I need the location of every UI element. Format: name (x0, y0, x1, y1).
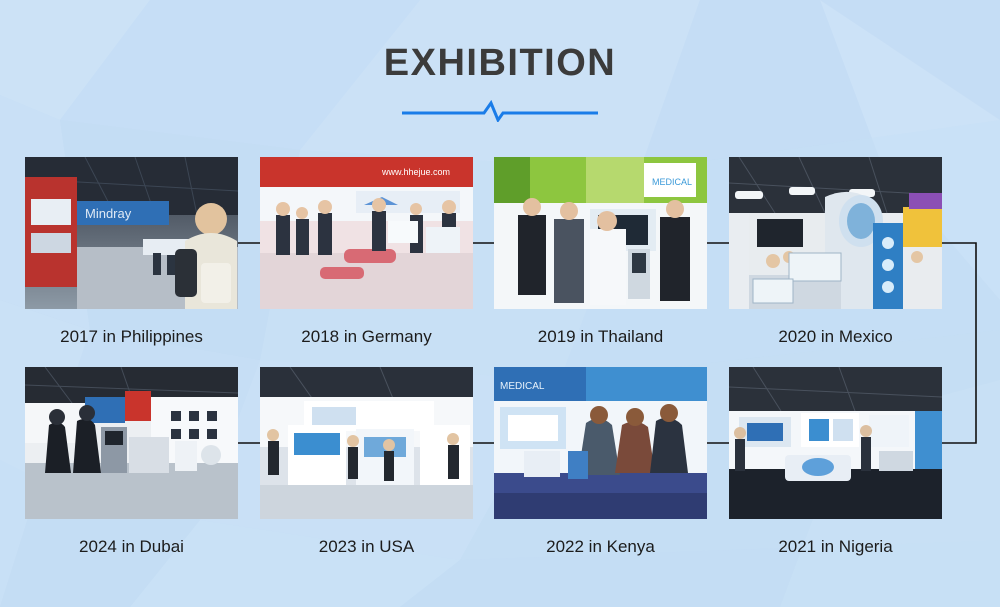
exhibition-caption-2022: 2022 in Kenya (494, 537, 707, 557)
exhibition-caption-2020: 2020 in Mexico (729, 327, 942, 347)
exhibition-photo-dubai (25, 367, 238, 519)
exhibition-photo-mexico (729, 157, 942, 309)
exhibition-photo-nigeria (729, 367, 942, 519)
exhibition-photo-kenya: MEDICAL (494, 367, 707, 519)
exhibition-photo-germany: www.hhejue.com (260, 157, 473, 309)
exhibition-caption-2024: 2024 in Dubai (25, 537, 238, 557)
svg-text:Mindray: Mindray (85, 206, 132, 221)
exhibition-card-2018[interactable]: www.hhejue.com (260, 157, 473, 347)
exhibition-caption-2023: 2023 in USA (260, 537, 473, 557)
pulse-line-icon (402, 100, 598, 122)
exhibition-card-2024[interactable]: 2024 in Dubai (25, 367, 238, 557)
exhibition-card-2023[interactable]: agic 2023 in USA (260, 367, 473, 557)
exhibition-card-2019[interactable]: MEDICAL (494, 157, 707, 347)
exhibition-photo-philippines: Mindray (25, 157, 238, 309)
page-title: EXHIBITION (0, 44, 1000, 82)
svg-text:MEDICAL: MEDICAL (500, 381, 545, 392)
exhibition-caption-2019: 2019 in Thailand (494, 327, 707, 347)
timeline-row-top: Mindray 2017 in Philippines (0, 157, 1000, 357)
exhibition-page: EXHIBITION (0, 0, 1000, 607)
exhibition-caption-2018: 2018 in Germany (260, 327, 473, 347)
svg-text:www.hhejue.com: www.hhejue.com (381, 167, 450, 177)
exhibition-card-2022[interactable]: MEDICAL (494, 367, 707, 557)
exhibition-caption-2017: 2017 in Philippines (25, 327, 238, 347)
svg-text:MEDICAL: MEDICAL (652, 177, 692, 187)
exhibition-card-2017[interactable]: Mindray 2017 in Philippines (25, 157, 238, 347)
exhibition-card-2021[interactable]: 2021 in Nigeria (729, 367, 942, 557)
exhibition-photo-usa: agic (260, 367, 473, 519)
timeline-row-bottom: 2024 in Dubai (0, 367, 1000, 567)
exhibition-card-2020[interactable]: 2020 in Mexico (729, 157, 942, 347)
page-header: EXHIBITION (0, 44, 1000, 122)
exhibition-caption-2021: 2021 in Nigeria (729, 537, 942, 557)
exhibition-photo-thailand: MEDICAL (494, 157, 707, 309)
